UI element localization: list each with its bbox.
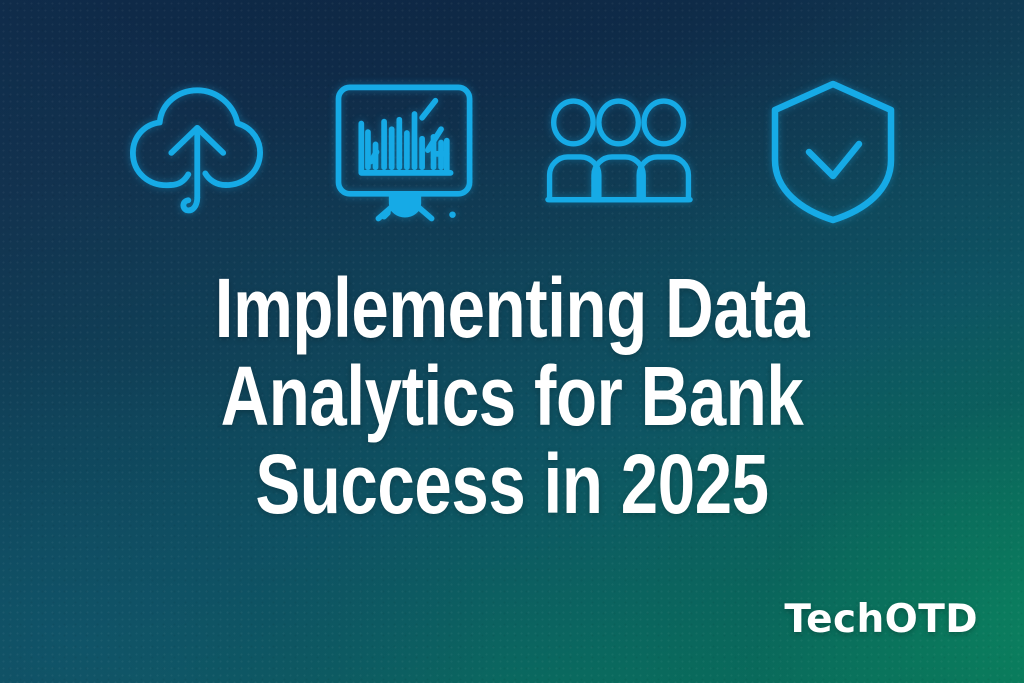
icon-row [0, 76, 1024, 228]
cloud-upload-icon [115, 77, 267, 227]
title-line-1: Implementing Data [134, 264, 889, 352]
title-line-2: Analytics for Bank [134, 352, 889, 440]
icon-cell-cloud-upload [115, 76, 267, 228]
monitor-accent-dot [449, 211, 455, 217]
monitor-bar-chart-icon [329, 76, 481, 228]
poster-canvas: Implementing Data Analytics for Bank Suc… [0, 0, 1024, 683]
brand-logo-text: TechOTD [784, 600, 978, 639]
shield-check-icon [767, 78, 899, 226]
people-group-icon [543, 86, 695, 218]
icon-cell-people-group [543, 76, 695, 228]
brand-wrapper: TechOTD [784, 600, 978, 639]
poster-title: Implementing Data Analytics for Bank Suc… [0, 264, 1024, 528]
icon-cell-monitor-chart [329, 76, 481, 228]
title-line-3: Success in 2025 [134, 440, 889, 528]
poster-content: Implementing Data Analytics for Bank Suc… [0, 0, 1024, 683]
icon-cell-shield-check [757, 76, 909, 228]
